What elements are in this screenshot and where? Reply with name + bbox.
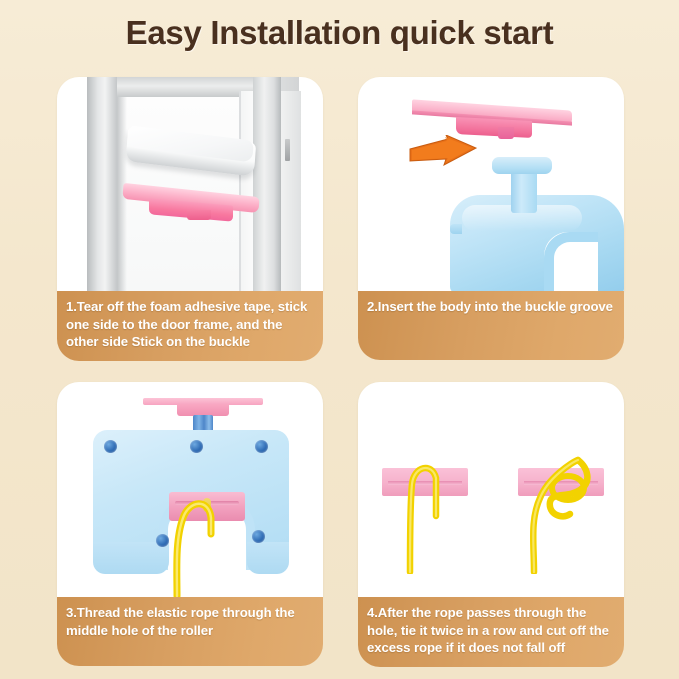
step-3-illustration bbox=[57, 382, 323, 597]
buckle-plate-tab bbox=[187, 210, 211, 220]
step-4-caption: 4.After the rope passes through the hole… bbox=[358, 597, 624, 667]
screw-icon bbox=[104, 440, 117, 453]
step-1-illustration bbox=[57, 77, 323, 291]
step-3-caption: 3.Thread the elastic rope through the mi… bbox=[57, 597, 323, 666]
knot-scene bbox=[358, 382, 624, 597]
door-jamb-left bbox=[87, 77, 117, 291]
device-body-cutout-edge bbox=[544, 232, 598, 291]
buckle-groove-notch bbox=[498, 127, 514, 139]
step-2-illustration bbox=[358, 77, 624, 291]
step-2-caption: 2.Insert the body into the buckle groove bbox=[358, 291, 624, 360]
device-stem-head bbox=[492, 157, 552, 174]
instruction-sheet: Easy Installation quick start bbox=[0, 0, 679, 679]
elastic-rope bbox=[147, 470, 267, 597]
step-1-caption: 1.Tear off the foam adhesive tape, stick… bbox=[57, 291, 323, 361]
step-card-1: 1.Tear off the foam adhesive tape, stick… bbox=[57, 77, 323, 361]
step-card-4: 4.After the rope passes through the hole… bbox=[358, 382, 624, 667]
door-latch-icon bbox=[285, 139, 290, 161]
step-card-3: 3.Thread the elastic rope through the mi… bbox=[57, 382, 323, 666]
door-frame-scene bbox=[57, 77, 323, 291]
step-card-2: 2.Insert the body into the buckle groove bbox=[358, 77, 624, 360]
thread-rope-scene bbox=[57, 382, 323, 597]
door-jamb-right bbox=[253, 77, 281, 291]
steps-grid: 1.Tear off the foam adhesive tape, stick… bbox=[0, 0, 679, 679]
device-stem bbox=[511, 169, 537, 213]
elastic-rope-knotted bbox=[516, 440, 608, 574]
elastic-rope-through-hole bbox=[388, 444, 468, 574]
insert-body-scene bbox=[358, 77, 624, 291]
device-body-ear bbox=[450, 224, 462, 234]
step-4-illustration bbox=[358, 382, 624, 597]
screw-icon bbox=[190, 440, 203, 453]
screw-icon bbox=[255, 440, 268, 453]
direction-arrow-icon bbox=[408, 135, 478, 169]
